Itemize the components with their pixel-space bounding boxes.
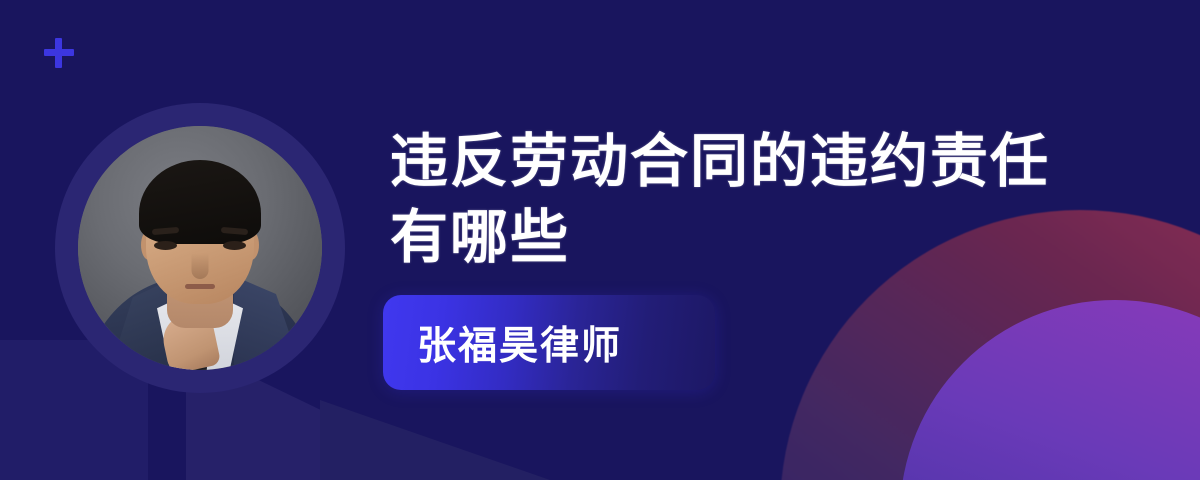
- plus-icon: [44, 38, 74, 68]
- portrait-nose: [192, 253, 209, 279]
- avatar: [78, 126, 322, 370]
- title-line-2: 有哪些: [390, 200, 1090, 276]
- avatar-ring: [55, 103, 345, 393]
- title-line-1: 违反劳动合同的违约责任: [390, 124, 1090, 200]
- portrait-eye-right: [223, 241, 246, 250]
- lawyer-name-button[interactable]: 张福昊律师: [383, 295, 715, 390]
- portrait-eye-left: [154, 241, 177, 250]
- decor-arc-purple: [900, 300, 1200, 480]
- page-title: 违反劳动合同的违约责任 有哪些: [390, 124, 1090, 276]
- decor-polygon-tail: [320, 400, 550, 480]
- portrait-mouth: [185, 284, 215, 289]
- article-banner: 违反劳动合同的违约责任 有哪些 张福昊律师: [0, 0, 1200, 480]
